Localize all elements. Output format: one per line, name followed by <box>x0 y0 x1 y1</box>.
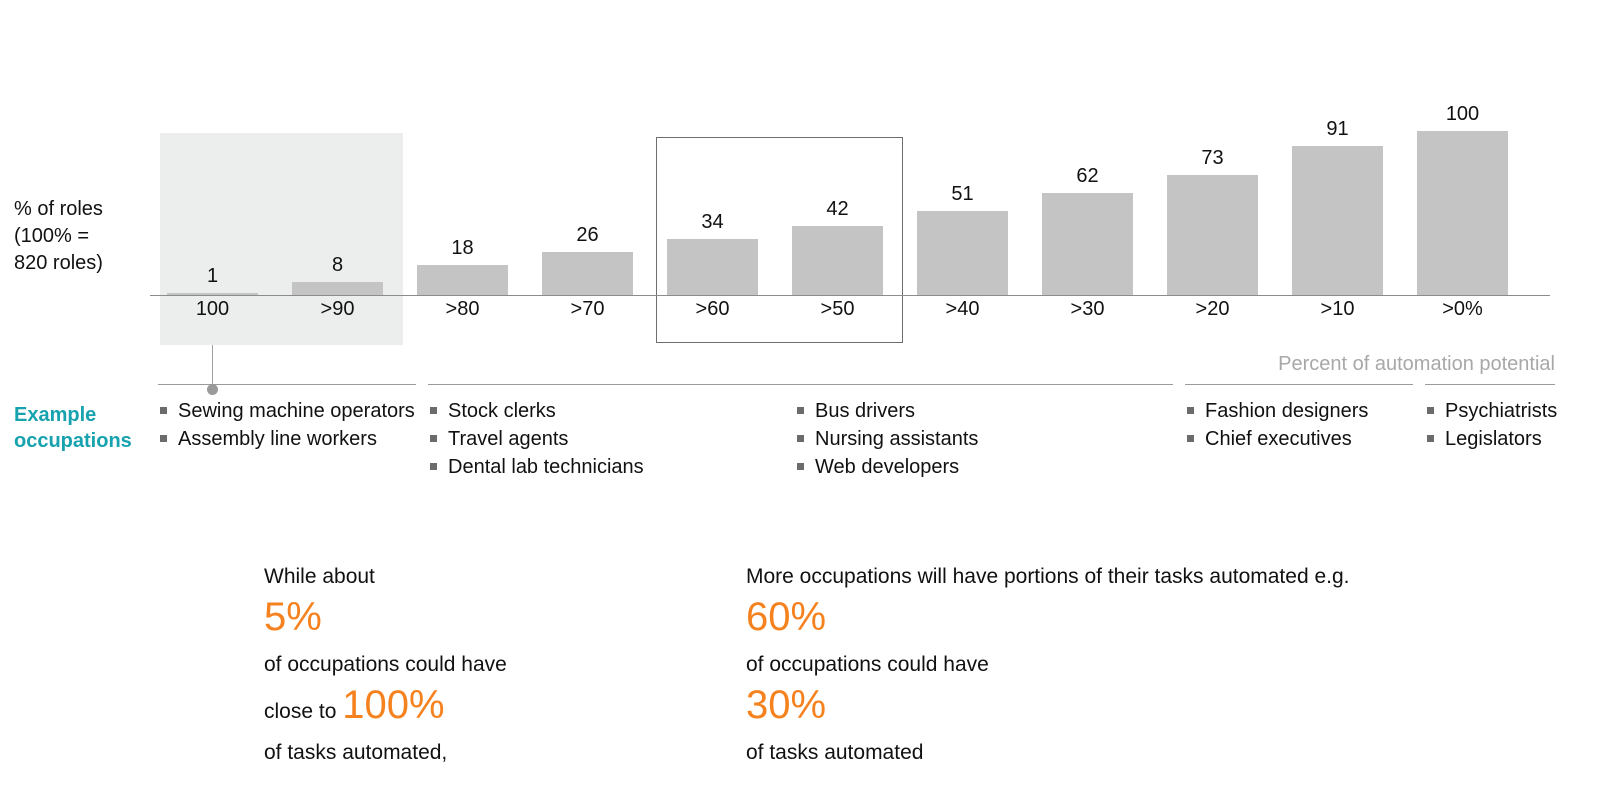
bar-group: 73>20 <box>1150 80 1275 345</box>
callout-right-pct-occupations: 60% <box>746 595 826 639</box>
bullet-icon <box>1187 435 1194 442</box>
bar-group: 18>80 <box>400 80 525 345</box>
occupation-group-3: Bus driversNursing assistantsWeb develop… <box>795 384 1173 481</box>
callout-right-line3: of occupations could have <box>746 644 1506 685</box>
callout-left-line1: While about <box>264 556 724 597</box>
list-item: Psychiatrists <box>1425 397 1555 425</box>
list-item: Web developers <box>795 453 1173 481</box>
callout-left: While about 5% of occupations could have… <box>264 556 724 773</box>
summary-callouts: While about 5% of occupations could have… <box>0 556 1600 789</box>
callout-left-pct-occupations: 5% <box>264 595 322 639</box>
x-tick-label: >90 <box>275 298 400 321</box>
list-item: Chief executives <box>1185 425 1413 453</box>
list-item: Sewing machine operators <box>158 397 416 425</box>
x-tick-label: >30 <box>1025 298 1150 321</box>
occupation-list: Sewing machine operatorsAssembly line wo… <box>158 385 416 453</box>
bullet-icon <box>430 435 437 442</box>
callout-left-pct-tasks: 100% <box>342 683 444 727</box>
bullet-icon <box>160 407 167 414</box>
bullet-icon <box>1427 435 1434 442</box>
x-tick-label: 100 <box>150 298 275 321</box>
occupation-group-1: Sewing machine operatorsAssembly line wo… <box>158 384 416 453</box>
bar-group: 1100 <box>150 80 275 345</box>
bar-90[interactable] <box>292 282 383 295</box>
x-tick-label: >10 <box>1275 298 1400 321</box>
occupation-group-5: PsychiatristsLegislators <box>1425 384 1555 453</box>
bar-value-label: 62 <box>1025 165 1150 188</box>
occupation-name: Fashion designers <box>1205 400 1368 422</box>
occupation-name: Sewing machine operators <box>178 400 415 422</box>
bar-group: 26>70 <box>525 80 650 345</box>
bar-20[interactable] <box>1167 175 1258 295</box>
occupation-name: Bus drivers <box>815 400 915 422</box>
bar-value-label: 100 <box>1400 103 1525 126</box>
bullet-icon <box>797 407 804 414</box>
bar-value-label: 51 <box>900 183 1025 206</box>
list-item: Travel agents <box>428 425 796 453</box>
bar-30[interactable] <box>1042 193 1133 295</box>
bar-value-label: 26 <box>525 224 650 247</box>
x-tick-label: >20 <box>1150 298 1275 321</box>
bullet-icon <box>1187 407 1194 414</box>
occupation-list: Stock clerksTravel agentsDental lab tech… <box>428 385 796 481</box>
x-tick-label: >80 <box>400 298 525 321</box>
list-item: Fashion designers <box>1185 397 1413 425</box>
bar-70[interactable] <box>542 252 633 295</box>
x-axis-caption: Percent of automation potential <box>1278 353 1555 376</box>
example-occupations-label: Example occupations <box>14 402 132 454</box>
bar-value-label: 73 <box>1150 147 1275 170</box>
occupation-name: Chief executives <box>1205 428 1352 450</box>
x-tick-label: >40 <box>900 298 1025 321</box>
bar-group: 62>30 <box>1025 80 1150 345</box>
bullet-icon <box>1427 407 1434 414</box>
occupation-group-2: Stock clerksTravel agentsDental lab tech… <box>428 384 796 481</box>
occupation-name: Dental lab technicians <box>448 456 644 478</box>
callout-right-line1: More occupations will have portions of t… <box>746 556 1506 597</box>
x-axis-baseline <box>150 295 1550 296</box>
bullet-icon <box>797 435 804 442</box>
callout-right: More occupations will have portions of t… <box>746 556 1506 773</box>
occupation-name: Assembly line workers <box>178 428 377 450</box>
bar-0[interactable] <box>1417 131 1508 295</box>
occupation-name: Legislators <box>1445 428 1542 450</box>
occupation-list: PsychiatristsLegislators <box>1425 385 1555 453</box>
occupation-list: Fashion designersChief executives <box>1185 385 1413 453</box>
callout-box-mid-range <box>656 137 903 343</box>
occupation-name: Stock clerks <box>448 400 556 422</box>
bar-group: 100>0% <box>1400 80 1525 345</box>
list-item: Dental lab technicians <box>428 453 796 481</box>
bar-value-label: 18 <box>400 237 525 260</box>
example-occupations-section: Example occupations Sewing machine opera… <box>0 384 1600 500</box>
bar-group: 51>40 <box>900 80 1025 345</box>
list-item: Nursing assistants <box>795 425 1173 453</box>
x-tick-label: >0% <box>1400 298 1525 321</box>
bar-group: 8>90 <box>275 80 400 345</box>
x-tick-label: >70 <box>525 298 650 321</box>
occupation-list: Bus driversNursing assistantsWeb develop… <box>795 385 1173 481</box>
occupation-name: Nursing assistants <box>815 428 978 450</box>
list-item: Bus drivers <box>795 397 1173 425</box>
bar-40[interactable] <box>917 211 1008 295</box>
y-axis-caption: % of roles (100% = 820 roles) <box>14 196 103 277</box>
occupation-group-4: Fashion designersChief executives <box>1185 384 1413 453</box>
callout-right-pct-tasks: 30% <box>746 683 826 727</box>
bar-10[interactable] <box>1292 146 1383 295</box>
bullet-icon <box>797 463 804 470</box>
callout-left-line5: of tasks automated, <box>264 732 724 773</box>
bullet-icon <box>430 407 437 414</box>
bar-80[interactable] <box>417 265 508 295</box>
occupation-name: Web developers <box>815 456 959 478</box>
bar-value-label: 1 <box>150 265 275 288</box>
list-item: Assembly line workers <box>158 425 416 453</box>
callout-left-line4-prefix: close to <box>264 700 342 723</box>
bar-value-label: 91 <box>1275 118 1400 141</box>
bullet-icon <box>430 463 437 470</box>
list-item: Stock clerks <box>428 397 796 425</box>
callout-left-line3: of occupations could have <box>264 644 724 685</box>
bullet-icon <box>160 435 167 442</box>
callout-right-line5: of tasks automated <box>746 732 1506 773</box>
occupation-name: Psychiatrists <box>1445 400 1557 422</box>
list-item: Legislators <box>1425 425 1555 453</box>
bar-value-label: 8 <box>275 254 400 277</box>
bar-group: 91>10 <box>1275 80 1400 345</box>
occupation-name: Travel agents <box>448 428 568 450</box>
